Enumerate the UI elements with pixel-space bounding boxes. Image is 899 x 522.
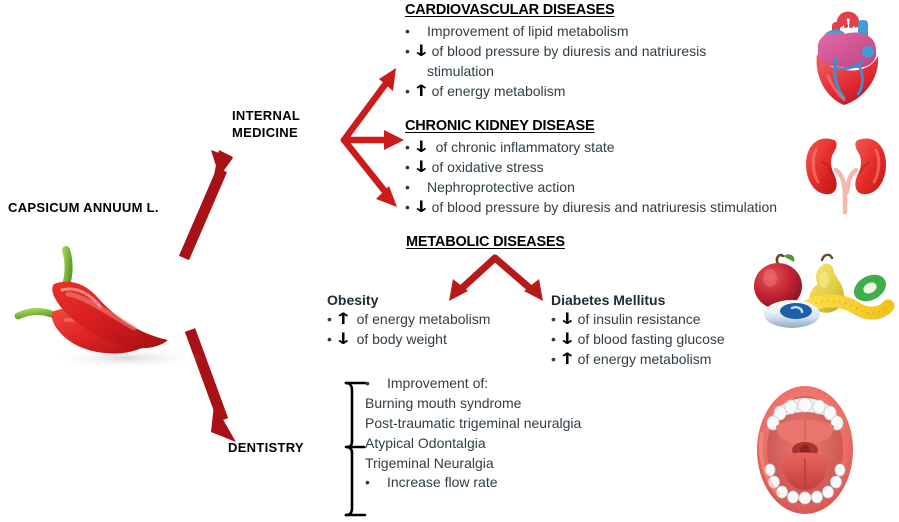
section-chronic-kidney: CHRONIC KIDNEY DISEASE • ↓ of chronic in… <box>405 118 777 218</box>
dentistry-item-6: • Increase flow rate <box>365 473 581 493</box>
diabetes-title: Diabetes Mellitus <box>551 292 725 308</box>
metabolic-heading: METABOLIC DISEASES <box>406 234 565 250</box>
internal-medicine-line-1: INTERNAL <box>232 108 300 125</box>
arrow-down-icon: ↓ <box>412 140 430 156</box>
item-text: of chronic inflammatory state <box>432 138 615 158</box>
item-text: of blood fasting glucose <box>578 330 725 350</box>
diabetes-item-2: • ↓ of blood fasting glucose <box>551 330 725 350</box>
arrow-down-icon: ↓ <box>412 44 430 60</box>
chronic-kidney-item-3: • Nephroprotective action <box>405 178 777 198</box>
item-text: Nephroprotective action <box>427 178 575 198</box>
internal-medicine-line-2: MEDICINE <box>232 125 300 142</box>
dentistry-item-5: Trigeminal Neuralgia <box>365 454 581 474</box>
item-text: Increase flow rate <box>387 473 498 493</box>
cardiovascular-item-2-continuation: stimulation <box>405 62 706 82</box>
diabetes-item-1: • ↓ of insulin resistance <box>551 310 725 330</box>
arrow-down-icon: ↓ <box>558 332 576 348</box>
obesity-item-2: • ↓ of body weight <box>327 330 490 350</box>
chronic-kidney-heading: CHRONIC KIDNEY DISEASE <box>405 118 777 134</box>
diabetes-item-3: • ↑ of energy metabolism <box>551 350 725 370</box>
arrow-metabolic-to-diabetes <box>495 258 543 301</box>
arrow-down-icon: ↓ <box>558 312 576 328</box>
branch-obesity: Obesity • ↑ of energy metabolism • ↓ of … <box>327 292 490 350</box>
obesity-title: Obesity <box>327 292 490 308</box>
fruit-glucometer-tape-icon <box>748 250 896 334</box>
section-cardiovascular: CARDIOVASCULAR DISEASES • Improvement of… <box>405 2 706 102</box>
dentistry-item-3: Post-traumatic trigeminal neuralgia <box>365 414 581 434</box>
arrow-down-icon: ↓ <box>334 332 352 348</box>
branch-diabetes: Diabetes Mellitus • ↓ of insulin resista… <box>551 292 725 370</box>
node-internal-medicine[interactable]: INTERNAL MEDICINE <box>232 108 300 141</box>
bullet-dot: • <box>365 473 387 493</box>
node-dentistry[interactable]: DENTISTRY <box>228 440 304 457</box>
item-text: of energy metabolism <box>578 350 712 370</box>
arrow-down-icon: ↓ <box>412 160 430 176</box>
cardiovascular-item-1: • Improvement of lipid metabolism <box>405 22 706 42</box>
heart-icon <box>800 6 892 110</box>
dentistry-item-2: Burning mouth syndrome <box>365 394 581 414</box>
bullet-dot: • <box>405 22 427 42</box>
item-text: of energy metabolism <box>354 310 491 330</box>
arrow-up-icon: ↑ <box>412 83 430 99</box>
chronic-kidney-item-4: • ↓ of blood pressure by diuresis and na… <box>405 198 777 218</box>
cardiovascular-heading: CARDIOVASCULAR DISEASES <box>405 2 706 18</box>
item-text: of body weight <box>354 330 447 350</box>
item-text: of blood pressure by diuresis and natriu… <box>432 198 778 218</box>
chronic-kidney-item-1: • ↓ of chronic inflammatory state <box>405 138 777 158</box>
open-mouth-icon <box>742 382 868 518</box>
arrow-down-icon: ↓ <box>412 199 430 215</box>
obesity-item-1: • ↑ of energy metabolism <box>327 310 490 330</box>
dentistry-item-4: Atypical Odontalgia <box>365 434 581 454</box>
dentistry-list: • Improvement of: Burning mouth syndrome… <box>365 374 581 493</box>
arrow-up-icon: ↑ <box>558 351 576 367</box>
diagram-canvas: CAPSICUM ANNUUM L. INTERNAL MEDICINE CAR… <box>0 0 899 522</box>
item-text: of oxidative stress <box>432 158 544 178</box>
item-text: Improvement of: <box>387 374 488 394</box>
bullet-dot: • <box>365 374 387 394</box>
item-text: Improvement of lipid metabolism <box>427 22 629 42</box>
source-label: CAPSICUM ANNUUM L. <box>8 200 159 217</box>
chronic-kidney-item-2: • ↓ of oxidative stress <box>405 158 777 178</box>
cardiovascular-item-3: • ↑ of energy metabolism <box>405 82 706 102</box>
dentistry-item-1: • Improvement of: <box>365 374 581 394</box>
kidneys-icon <box>800 128 892 216</box>
arrow-up-icon: ↑ <box>334 312 352 328</box>
arrow-internal-to-cardiovascular <box>344 68 396 140</box>
item-text: of blood pressure by diuresis and natriu… <box>432 42 707 62</box>
dentistry-label: DENTISTRY <box>228 440 304 455</box>
bullet-dot: • <box>405 178 427 198</box>
item-text: of insulin resistance <box>578 310 701 330</box>
dentistry-brace <box>346 383 365 515</box>
chili-peppers-icon <box>8 240 238 375</box>
arrow-internal-to-metabolic <box>344 140 397 207</box>
item-text: of energy metabolism <box>432 82 566 102</box>
cardiovascular-item-2: • ↓ of blood pressure by diuresis and na… <box>405 42 706 62</box>
